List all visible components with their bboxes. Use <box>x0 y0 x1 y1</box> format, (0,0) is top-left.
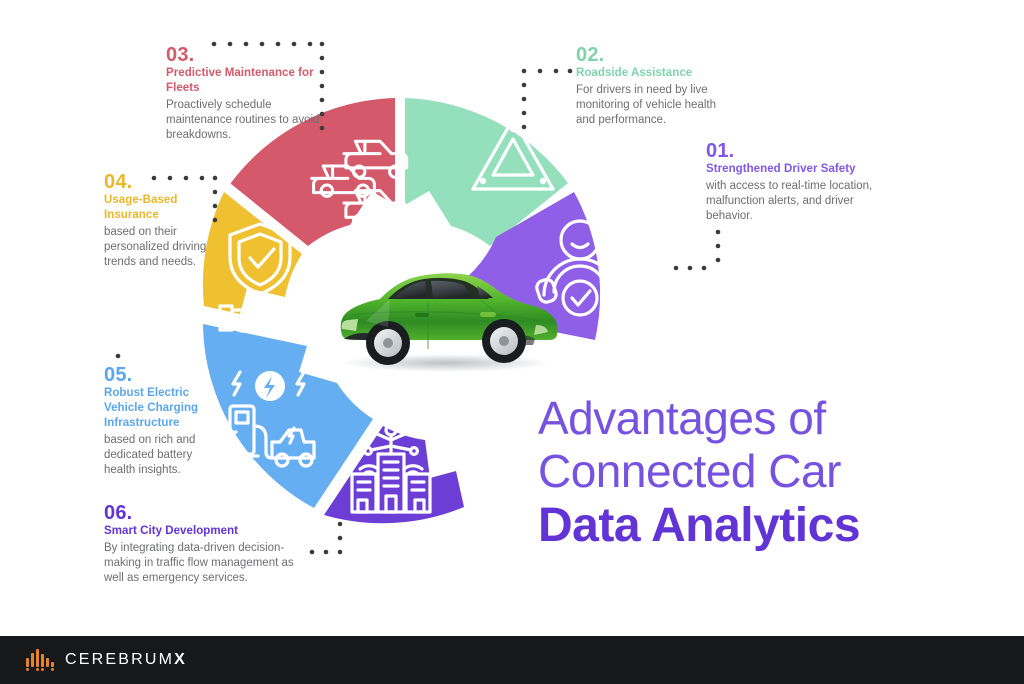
title-line-3: Data Analytics <box>538 498 958 554</box>
connector-02 <box>522 69 573 130</box>
connector-06 <box>310 522 343 555</box>
item-02-block: 02. Roadside Assistance For drivers in n… <box>576 44 736 128</box>
item-03-title: Predictive Maintenance for Fleets <box>166 66 326 96</box>
item-06-block: 06. Smart City Development By integratin… <box>104 502 314 586</box>
item-02-title: Roadside Assistance <box>576 66 736 81</box>
item-04-title: Usage-Based Insurance <box>104 193 214 223</box>
connector-05 <box>116 354 121 359</box>
item-06-body: By integrating data-driven decision-maki… <box>104 541 314 586</box>
item-06-number: 06. <box>104 502 314 524</box>
item-05-number: 05. <box>104 364 222 386</box>
item-05-title: Robust Electric Vehicle Charging Infrast… <box>104 386 222 431</box>
brand-name: CEREBRUMX <box>65 651 187 669</box>
item-04-block: 04. Usage-Based Insurance based on their… <box>104 171 214 270</box>
title-line-2: Connected Car <box>538 445 958 498</box>
footer-bar: CEREBRUMX <box>0 636 1024 684</box>
item-01-number: 01. <box>706 140 901 162</box>
title-line-1: Advantages of <box>538 392 958 445</box>
item-03-number: 03. <box>166 44 326 66</box>
page-title: Advantages of Connected Car Data Analyti… <box>538 392 958 554</box>
item-03-block: 03. Predictive Maintenance for Fleets Pr… <box>166 44 326 143</box>
item-05-body: based on rich and dedicated battery heal… <box>104 433 222 478</box>
cerebrumx-logo-icon <box>26 649 56 671</box>
brand-suffix: X <box>174 651 187 668</box>
item-02-body: For drivers in need by live monitoring o… <box>576 83 736 128</box>
item-05-block: 05. Robust Electric Vehicle Charging Inf… <box>104 364 222 478</box>
brand-prefix: CEREBRUM <box>65 651 174 668</box>
brand-logo[interactable]: CEREBRUMX <box>26 649 187 671</box>
item-01-block: 01. Strengthened Driver Safety with acce… <box>706 140 901 224</box>
item-03-body: Proactively schedule maintenance routine… <box>166 98 326 143</box>
item-02-number: 02. <box>576 44 736 66</box>
item-01-body: with access to real-time location, malfu… <box>706 179 901 224</box>
item-04-number: 04. <box>104 171 214 193</box>
connector-01 <box>674 230 721 271</box>
item-01-title: Strengthened Driver Safety <box>706 162 901 177</box>
item-06-title: Smart City Development <box>104 524 314 539</box>
item-04-body: based on their personalized driving tren… <box>104 225 214 270</box>
infographic-canvas: 01. Strengthened Driver Safety with acce… <box>0 0 1024 684</box>
